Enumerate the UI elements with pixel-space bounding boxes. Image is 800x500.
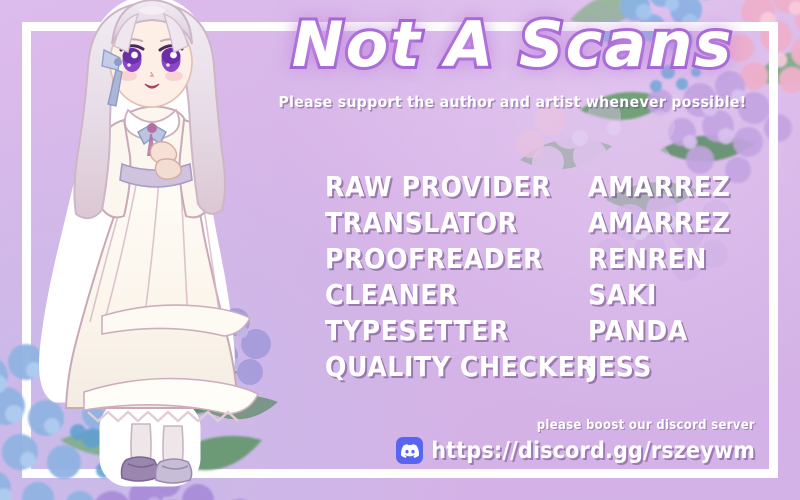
credit-name: AMARREZ	[588, 206, 725, 239]
credit-role: QUALITY CHECKER	[325, 350, 588, 383]
discord-url[interactable]: https://discord.gg/rszeywm	[431, 438, 755, 464]
brand-title: Not A Scans	[255, 8, 770, 81]
character-illustration	[28, 0, 278, 494]
credit-name: PANDA	[588, 314, 725, 347]
credit-name: SAKI	[588, 278, 725, 311]
header: Not A Scans Please support the author an…	[255, 8, 770, 111]
credit-name: JESS	[588, 350, 725, 383]
credit-row: TYPESETTER PANDA	[325, 314, 725, 350]
credits-list: RAW PROVIDER AMARREZ TRANSLATOR AMARREZ …	[325, 170, 725, 386]
discord-footer: please boost our discord server https://…	[396, 418, 755, 464]
credit-role: CLEANER	[325, 278, 588, 311]
credit-row: QUALITY CHECKER JESS	[325, 350, 725, 386]
credit-row: PROOFREADER RENREN	[325, 242, 725, 278]
credit-role: RAW PROVIDER	[325, 170, 588, 203]
credit-role: TRANSLATOR	[325, 206, 588, 239]
credit-role: TYPESETTER	[325, 314, 588, 347]
discord-link-row[interactable]: https://discord.gg/rszeywm	[396, 437, 755, 464]
credit-role: PROOFREADER	[325, 242, 588, 275]
credit-name: AMARREZ	[588, 170, 725, 203]
credit-row: CLEANER SAKI	[325, 278, 725, 314]
credit-name: RENREN	[588, 242, 725, 275]
credit-row: RAW PROVIDER AMARREZ	[325, 170, 725, 206]
discord-icon	[396, 437, 423, 464]
scanlation-credits-card: Not A Scans Please support the author an…	[0, 0, 800, 500]
brand-subtitle: Please support the author and artist whe…	[255, 93, 770, 111]
discord-boost-text: please boost our discord server	[396, 418, 755, 433]
credit-row: TRANSLATOR AMARREZ	[325, 206, 725, 242]
